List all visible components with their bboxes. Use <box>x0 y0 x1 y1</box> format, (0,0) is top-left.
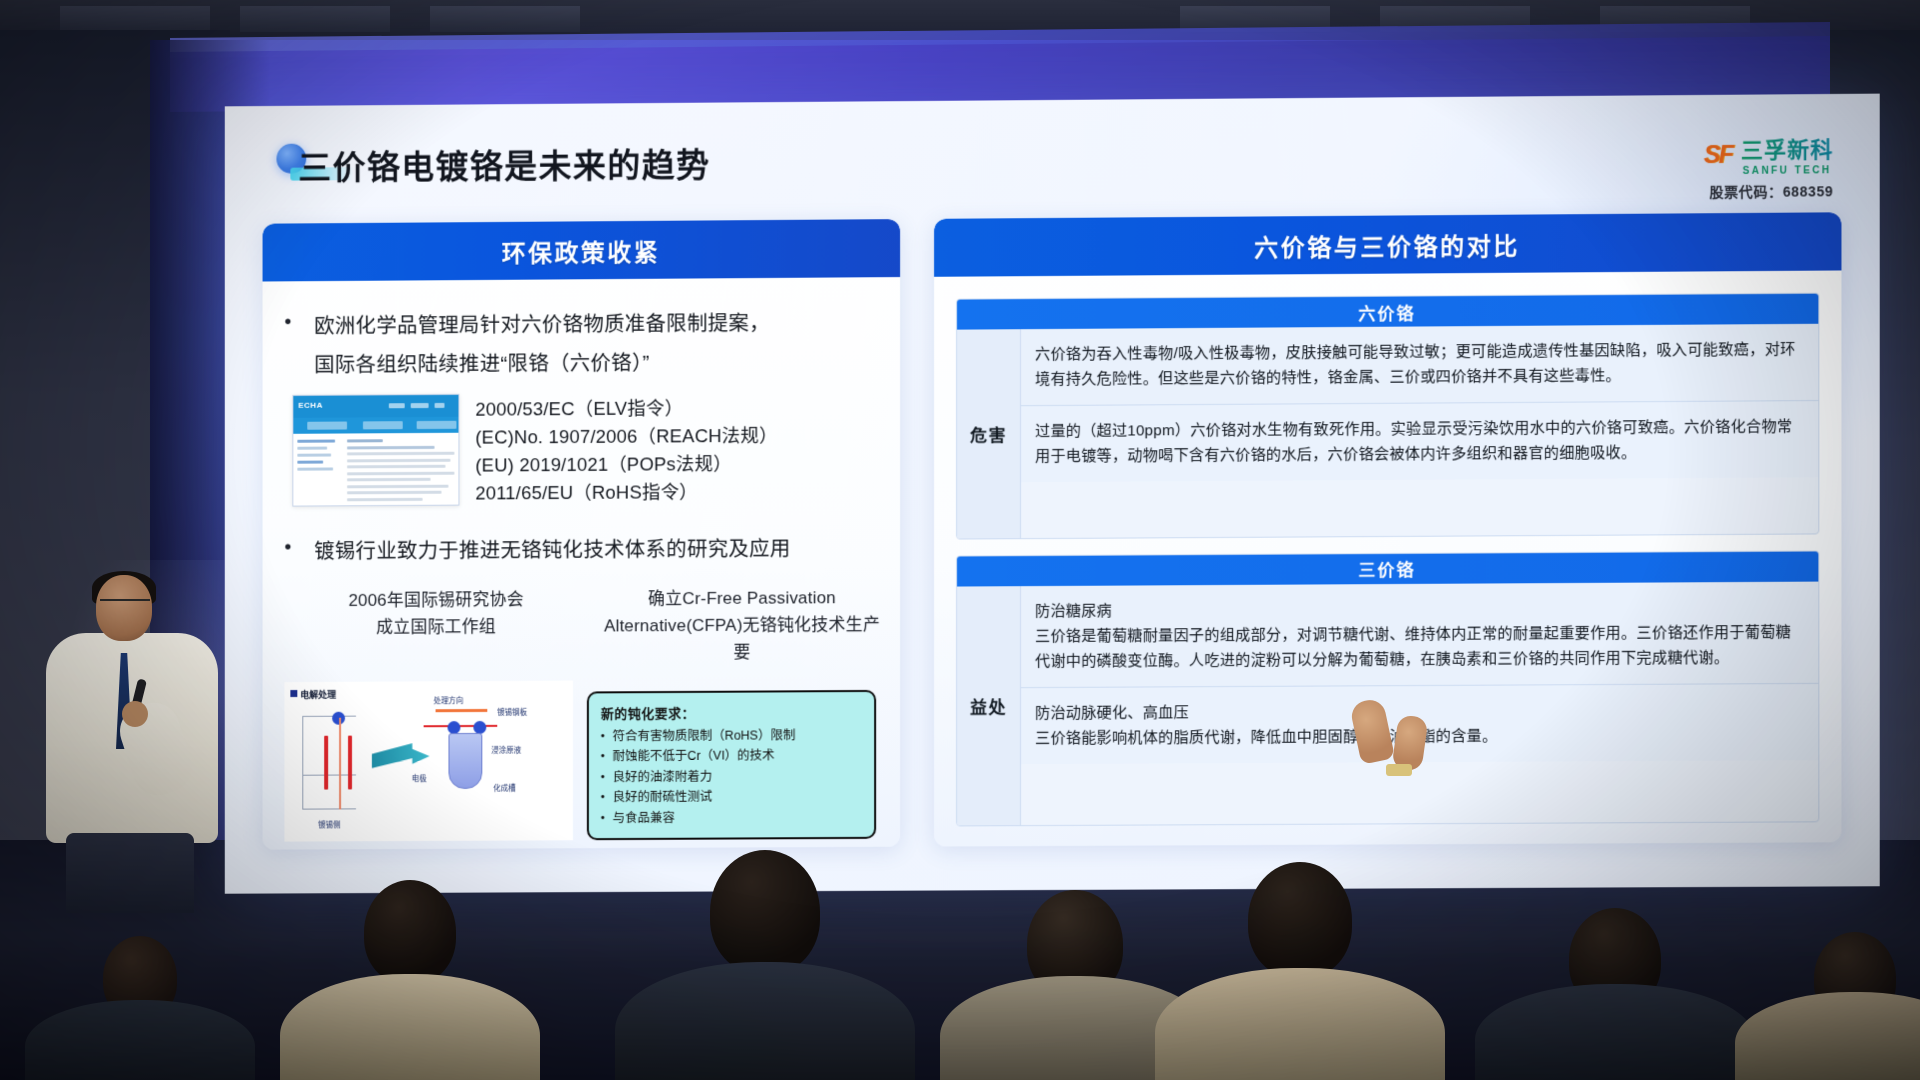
bullet-line: 国际各组织陆续推进“限铬（六价铬）” <box>314 343 770 385</box>
presenter-hand <box>122 701 148 727</box>
logo-mark-icon: SF <box>1704 140 1732 169</box>
diagram-label-steel-plate: 镀锡钢板 <box>497 707 527 718</box>
page-title: 三价铬电镀铬是未来的趋势 <box>298 139 710 190</box>
logo-name-en: SANFU TECH <box>1741 165 1834 177</box>
list-item: 2011/65/EU（RoHS指令） <box>475 478 777 508</box>
diagram-and-callout-row: 电解处理 镀锡侧 处理方向 镀锡钢板 浸涂原液 <box>284 679 876 842</box>
bullet-text-2: 镀锡行业致力于推进无铬钝化技术体系的研究及应用 <box>314 530 790 572</box>
company-logo: SF 三孚新科 SANFU TECH 股票代码：688359 <box>1704 132 1834 202</box>
bullet-item-1: • 欧洲化学品管理局针对六价铬物质准备限制提案， 国际各组织陆续推进“限铬（六价… <box>284 303 880 385</box>
callout-title: 新的钝化要求： <box>601 701 862 721</box>
table-cell: 防治糖尿病 三价铬是葡萄糖耐量因子的组成部分，对调节糖代谢、维持体内正常的耐量起… <box>1021 581 1818 687</box>
diagram-bullet-icon <box>290 690 297 697</box>
plating-tank-icon <box>448 733 482 789</box>
list-item: 2000/53/EC（ELV指令） <box>475 394 777 424</box>
regulation-list: 2000/53/EC（ELV指令） (EC)No. 1907/2006（REAC… <box>475 392 777 508</box>
bullet-text-1: 欧洲化学品管理局针对六价铬物质准备限制提案， 国际各组织陆续推进“限铬（六价铬）… <box>314 304 770 385</box>
callout-item: •良好的耐硫性测试 <box>601 786 862 808</box>
panel-right-body: 六价铬 危害 六价铬为吞入性毒物/吸入性极毒物，皮肤接触可能导致过敏；更可能造成… <box>934 270 1841 846</box>
callout-item-label: 与食品兼容 <box>613 807 675 828</box>
presenter <box>30 575 240 905</box>
diagram-label-formation-tank: 化成槽 <box>493 783 515 794</box>
panel-left-body: • 欧洲化学品管理局针对六价铬物质准备限制提案， 国际各组织陆续推进“限铬（六价… <box>263 277 901 850</box>
block-hexavalent-chromium: 六价铬 危害 六价铬为吞入性毒物/吸入性极毒物，皮肤接触可能导致过敏；更可能造成… <box>956 293 1819 540</box>
electrolysis-diagram: 电解处理 镀锡侧 处理方向 镀锡钢板 浸涂原液 <box>284 681 573 842</box>
presentation-slide: 三价铬电镀铬是未来的趋势 SF 三孚新科 SANFU TECH 股票代码：688… <box>225 94 1880 894</box>
row-label-text: 益处 <box>970 693 1007 718</box>
panel-left-header-label: 环保政策收紧 <box>502 232 660 268</box>
cfpa-line: 成立国际工作组 <box>298 613 574 641</box>
diagram-label-tin-side: 镀锡侧 <box>318 819 340 830</box>
audience-member <box>300 880 520 1080</box>
callout-item: •良好的油漆附着力 <box>601 765 862 787</box>
slide-header: 三价铬电镀铬是未来的趋势 SF 三孚新科 SANFU TECH 股票代码：688… <box>276 130 1839 204</box>
cfpa-line: 2006年国际锡研究协会 <box>298 586 574 615</box>
bullet-marker-icon: • <box>284 532 298 562</box>
block-hex-title: 六价铬 <box>1358 299 1415 324</box>
audience-member <box>640 850 890 1080</box>
block-tri-header: 三价铬 <box>957 551 1818 586</box>
callout-item-label: 良好的油漆附着力 <box>613 766 713 787</box>
audience-member <box>1760 910 1920 1080</box>
glasses-icon <box>100 599 150 611</box>
passivation-requirements-callout: 新的钝化要求： •符合有害物质限制（RoHS）限制 •耐蚀能不低于Cr（VI）的… <box>587 689 876 840</box>
audience-member <box>40 920 240 1080</box>
cfpa-two-column: 2006年国际锡研究协会 成立国际工作组 确立Cr-Free Passivati… <box>284 584 880 668</box>
process-arrow-icon <box>372 743 430 769</box>
panel-right-header-label: 六价铬与三价铬的对比 <box>1254 226 1520 263</box>
table-cell: 六价铬为吞入性毒物/吸入性极毒物，皮肤接触可能导致过敏；更可能造成遗传性基因缺陷… <box>1021 324 1818 405</box>
block-tri-row-label: 益处 <box>957 586 1021 825</box>
bullet-marker-icon: • <box>284 307 298 337</box>
list-item: (EU) 2019/1021（POPs法规） <box>475 450 777 480</box>
callout-item-label: 耐蚀能不低于Cr（VI）的技术 <box>613 745 775 766</box>
row-label-text: 危害 <box>970 421 1007 446</box>
bullet-item-2: • 镀锡行业致力于推进无铬钝化技术体系的研究及应用 <box>284 529 880 571</box>
presenter-legs <box>66 833 194 913</box>
callout-item: •与食品兼容 <box>601 806 862 828</box>
table-cell: 过量的（超过10ppm）六价铬对水生物有致死作用。实验显示受污染饮用水中的六价铬… <box>1021 400 1818 482</box>
cfpa-column-2: 确立Cr-Free Passivation Alternative(CFPA)无… <box>604 584 880 666</box>
diagram-label-electrode: 电极 <box>412 773 427 784</box>
direction-bar-icon <box>436 709 488 712</box>
callout-item-label: 良好的耐硫性测试 <box>613 787 713 808</box>
callout-item-label: 符合有害物质限制（RoHS）限制 <box>613 725 796 746</box>
diagram-label-dip-solution: 浸涂原液 <box>491 745 521 756</box>
bullet-line: 欧洲化学品管理局针对六价铬物质准备限制提案， <box>314 304 770 346</box>
cfpa-column-1: 2006年国际锡研究协会 成立国际工作组 <box>298 586 574 668</box>
cfpa-line: Alternative(CFPA)无铬钝化技术生产要 <box>604 611 880 666</box>
diagram-label-direction: 处理方向 <box>434 695 464 706</box>
regulations-row: ECHA <box>284 391 880 509</box>
callout-item: •耐蚀能不低于Cr（VI）的技术 <box>601 745 862 767</box>
echa-logo-label: ECHA <box>298 401 323 410</box>
audience-member <box>1180 860 1420 1080</box>
wristwatch-icon <box>1386 764 1412 776</box>
cfpa-line: 确立Cr-Free Passivation <box>604 584 880 613</box>
list-item: (EC)No. 1907/2006（REACH法规） <box>475 422 777 452</box>
panel-left-header: 环保政策收紧 <box>263 219 901 281</box>
diagram-title: 电解处理 <box>300 688 336 701</box>
audience-member <box>1500 890 1730 1080</box>
block-hex-row-label: 危害 <box>957 329 1021 538</box>
callout-item: •符合有害物质限制（RoHS）限制 <box>601 724 862 746</box>
panel-right-header: 六价铬与三价铬的对比 <box>934 212 1841 277</box>
logo-name-cn: 三孚新科 <box>1741 132 1834 165</box>
block-tri-title: 三价铬 <box>1358 556 1415 581</box>
panel-environmental-policy: 环保政策收紧 • 欧洲化学品管理局针对六价铬物质准备限制提案， 国际各组织陆续推… <box>263 219 901 850</box>
block-trivalent-chromium: 三价铬 益处 防治糖尿病 三价铬是葡萄糖耐量因子的组成部分，对调节糖代谢、维持体… <box>956 550 1819 826</box>
echa-website-screenshot: ECHA <box>292 394 459 507</box>
stock-code-label: 股票代码：688359 <box>1704 181 1834 202</box>
